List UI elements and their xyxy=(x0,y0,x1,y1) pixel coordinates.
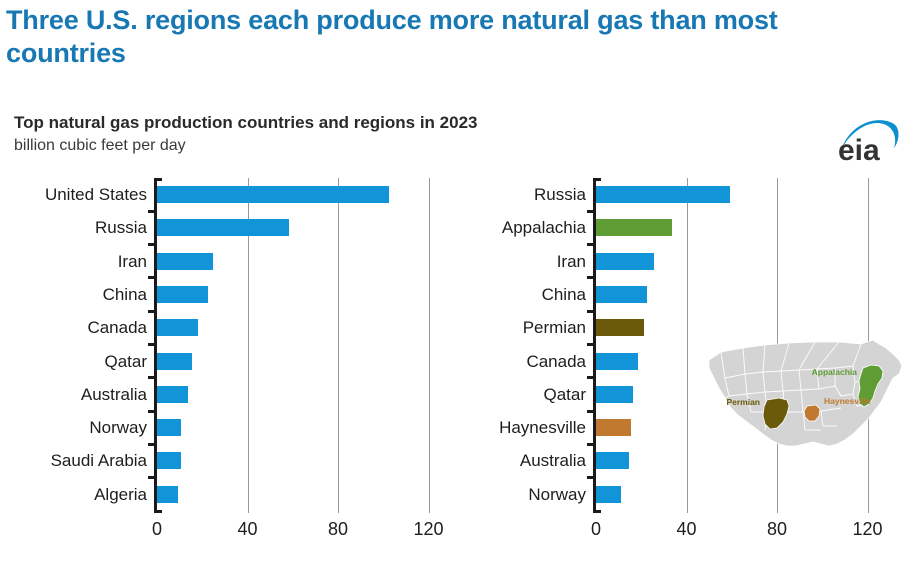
y-label: Saudi Arabia xyxy=(51,452,147,469)
y-label: Russia xyxy=(534,186,586,203)
y-label: Appalachia xyxy=(502,219,586,236)
y-label: China xyxy=(103,286,147,303)
y-label: Iran xyxy=(118,253,147,270)
bar xyxy=(596,253,654,270)
bar xyxy=(157,286,208,303)
bar-appalachia xyxy=(596,219,672,236)
y-tick xyxy=(587,310,594,313)
chart-subtitle: Top natural gas production countries and… xyxy=(14,113,477,133)
svg-text:eia: eia xyxy=(838,134,880,167)
y-tick xyxy=(587,410,594,413)
x-tick-label: 120 xyxy=(852,519,882,540)
y-tick xyxy=(587,243,594,246)
y-tick xyxy=(148,443,155,446)
eia-logo: eia xyxy=(836,110,904,168)
y-tick xyxy=(148,376,155,379)
y-tick xyxy=(587,376,594,379)
bar xyxy=(157,353,192,370)
bar xyxy=(157,319,198,336)
y-axis-labels-right: Russia Appalachia Iran China Permian Can… xyxy=(440,178,586,513)
bar xyxy=(157,186,389,203)
y-tick xyxy=(587,343,594,346)
y-tick xyxy=(587,443,594,446)
bar xyxy=(157,386,188,403)
bar xyxy=(596,386,633,403)
x-tick-label: 0 xyxy=(152,519,162,540)
x-tick-label: 0 xyxy=(591,519,601,540)
y-tick xyxy=(148,276,155,279)
us-map-icon: Appalachia Permian Haynesville xyxy=(703,334,908,469)
y-label: Algeria xyxy=(94,486,147,503)
bar xyxy=(157,419,181,436)
bar xyxy=(596,186,730,203)
y-label: Norway xyxy=(89,419,147,436)
map-label-permian: Permian xyxy=(726,397,760,407)
bar xyxy=(596,486,621,503)
y-tick xyxy=(148,210,155,213)
y-label: Permian xyxy=(523,319,586,336)
map-label-haynesville: Haynesville xyxy=(824,396,871,406)
x-tick-label: 120 xyxy=(413,519,443,540)
y-label: China xyxy=(542,286,586,303)
bar xyxy=(596,452,629,469)
x-tick-label: 40 xyxy=(676,519,696,540)
y-label: Canada xyxy=(87,319,147,336)
eia-logo-icon: eia xyxy=(836,110,904,168)
y-tick xyxy=(148,343,155,346)
y-label: Canada xyxy=(526,353,586,370)
us-shale-regions-map: Appalachia Permian Haynesville xyxy=(703,334,908,469)
x-tick-label: 80 xyxy=(767,519,787,540)
chart-units-label: billion cubic feet per day xyxy=(14,137,186,155)
chart-countries-only: United States Russia Iran China Canada Q… xyxy=(0,178,452,518)
bar xyxy=(596,286,647,303)
y-tick xyxy=(148,243,155,246)
bar xyxy=(157,253,213,270)
y-tick xyxy=(587,476,594,479)
y-tick xyxy=(587,276,594,279)
x-tick-label: 80 xyxy=(328,519,348,540)
bar xyxy=(596,353,638,370)
map-label-appalachia: Appalachia xyxy=(812,367,858,377)
y-label: Australia xyxy=(81,386,147,403)
bar-haynesville xyxy=(596,419,631,436)
bar xyxy=(157,486,178,503)
page-headline: Three U.S. regions each produce more nat… xyxy=(6,4,892,70)
y-axis-labels-left: United States Russia Iran China Canada Q… xyxy=(0,178,147,513)
plot-area-left: 0 40 80 120 xyxy=(157,178,442,513)
bar xyxy=(157,219,289,236)
y-label: Qatar xyxy=(543,386,586,403)
y-tick xyxy=(587,210,594,213)
y-tick xyxy=(148,476,155,479)
y-label: Russia xyxy=(95,219,147,236)
y-label: Qatar xyxy=(104,353,147,370)
x-tick-label: 40 xyxy=(237,519,257,540)
y-label: Iran xyxy=(557,253,586,270)
y-tick xyxy=(148,410,155,413)
bar-permian xyxy=(596,319,644,336)
y-label: Haynesville xyxy=(499,419,586,436)
y-label: Norway xyxy=(528,486,586,503)
y-label: United States xyxy=(45,186,147,203)
y-tick xyxy=(148,310,155,313)
y-label: Australia xyxy=(520,452,586,469)
bar xyxy=(157,452,181,469)
